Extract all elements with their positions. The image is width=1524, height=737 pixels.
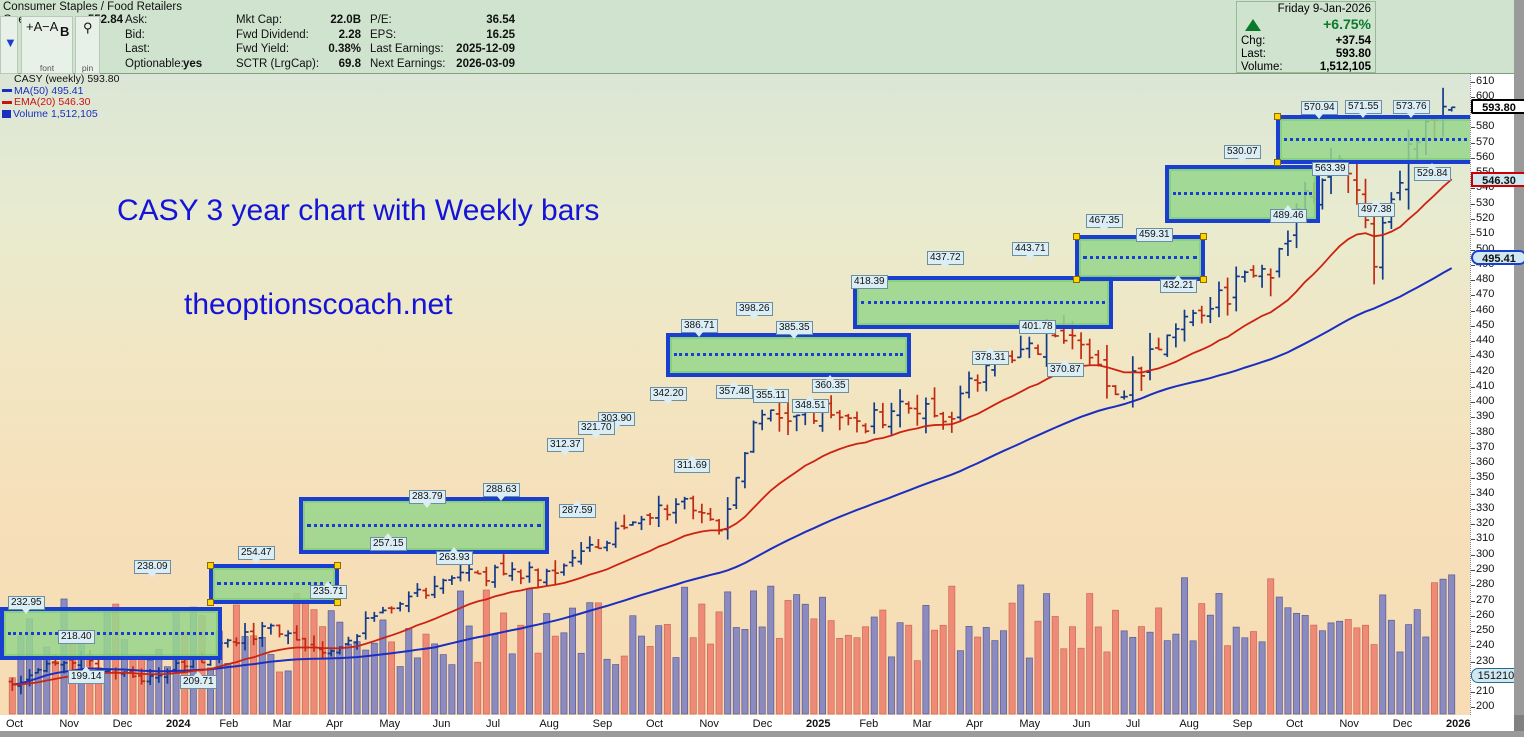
ohlc-bar bbox=[871, 402, 878, 433]
volume-bar bbox=[681, 587, 687, 714]
ask-label: Ask: bbox=[125, 14, 147, 26]
volume-bar bbox=[966, 626, 972, 714]
box-resize-handle[interactable] bbox=[1073, 276, 1080, 283]
volume-bar bbox=[716, 612, 722, 714]
volume-bar bbox=[302, 599, 308, 714]
next-earnings-value: 2026-03-09 bbox=[456, 58, 515, 70]
price-tag[interactable]: 571.55 bbox=[1345, 100, 1382, 114]
ohlc-bar bbox=[888, 403, 895, 435]
volume-bar bbox=[785, 600, 791, 714]
volume-bar bbox=[337, 622, 343, 714]
volume-bar bbox=[1009, 603, 1015, 714]
price-tag[interactable]: 238.09 bbox=[134, 560, 171, 574]
price-tag[interactable]: 254.47 bbox=[238, 546, 275, 560]
price-tag[interactable]: 311.69 bbox=[674, 459, 710, 473]
ohlc-bar bbox=[1138, 367, 1145, 391]
x-axis-tick: Mar bbox=[913, 718, 932, 730]
y-axis-tick: 300 bbox=[1476, 548, 1494, 560]
ohlc-bar bbox=[845, 414, 852, 425]
price-tag[interactable]: 283.79 bbox=[409, 490, 446, 504]
price-tag[interactable]: 232.95 bbox=[8, 596, 45, 610]
ohlc-bar bbox=[1250, 265, 1257, 277]
price-tag[interactable]: 209.71 bbox=[180, 675, 217, 689]
price-tag[interactable]: 573.76 bbox=[1393, 100, 1430, 114]
volume-row: Volume: 1,512,105 bbox=[1241, 61, 1371, 74]
volume-bar bbox=[225, 663, 231, 714]
volume-bar bbox=[1035, 621, 1041, 714]
fwd-dividend-label: Fwd Dividend: bbox=[236, 29, 309, 41]
volume-bar bbox=[268, 654, 274, 714]
change-row: Chg: +37.54 bbox=[1241, 35, 1371, 48]
price-tag[interactable]: 386.71 bbox=[681, 319, 718, 333]
volume-bar bbox=[587, 603, 593, 714]
volume-bar bbox=[380, 620, 386, 714]
volume-bar bbox=[1337, 621, 1343, 714]
price-tag[interactable]: 432.21 bbox=[1160, 279, 1197, 293]
ohlc-bar bbox=[457, 564, 464, 581]
ohlc-bar bbox=[974, 374, 981, 391]
volume-bar bbox=[345, 644, 351, 714]
ohlc-bar bbox=[862, 423, 869, 433]
ohlc-bar bbox=[646, 513, 653, 525]
volume-bar bbox=[604, 659, 610, 714]
ohlc-bar bbox=[655, 496, 662, 527]
volume-bar bbox=[535, 653, 541, 714]
ohlc-bar bbox=[931, 387, 938, 417]
ohlc-bar bbox=[1207, 297, 1214, 323]
volume-bar bbox=[1138, 627, 1144, 714]
fwd-yield-value: 0.38% bbox=[328, 43, 361, 55]
y-axis-tick: 280 bbox=[1476, 578, 1494, 590]
price-tag[interactable]: 312.37 bbox=[547, 438, 584, 452]
price-chart-plot[interactable]: CASY (weekly) 593.80 MA(50) 495.41 EMA(2… bbox=[0, 74, 1470, 715]
fwd-yield-label: Fwd Yield: bbox=[236, 43, 289, 55]
volume-bar bbox=[828, 621, 834, 714]
ohlc-bar bbox=[560, 563, 567, 575]
quote-last-label: Last: bbox=[1241, 48, 1266, 60]
box-resize-handle[interactable] bbox=[1200, 276, 1207, 283]
volume-bar bbox=[819, 597, 825, 714]
y-axis-tick: 420 bbox=[1476, 365, 1494, 377]
volume-bar bbox=[802, 604, 808, 714]
x-axis-tick: Nov bbox=[699, 718, 719, 730]
volume-bar bbox=[630, 616, 636, 714]
volume-bar bbox=[1026, 658, 1032, 714]
volume-bar bbox=[1449, 575, 1455, 714]
price-tag[interactable]: 530.07 bbox=[1224, 145, 1261, 159]
chevron-down-icon[interactable]: ▼ bbox=[4, 35, 17, 50]
ohlc-bar bbox=[388, 606, 395, 613]
y-axis-tick: 410 bbox=[1476, 380, 1494, 392]
ohlc-bar bbox=[1086, 339, 1093, 365]
y-axis-tick: 360 bbox=[1476, 456, 1494, 468]
ohlc-bar bbox=[595, 539, 602, 548]
price-tag[interactable]: 385.35 bbox=[776, 321, 813, 335]
x-axis-tick: Oct bbox=[6, 718, 23, 730]
volume-bar bbox=[1276, 597, 1282, 714]
volume-bar bbox=[742, 629, 748, 714]
price-tag[interactable]: 563.39 bbox=[1312, 162, 1349, 176]
volume-bar bbox=[397, 667, 403, 714]
price-tag[interactable]: 348.51 bbox=[792, 399, 829, 413]
dropdown-group[interactable]: ▼ bbox=[0, 16, 18, 74]
ohlc-bar bbox=[741, 452, 748, 488]
volume-bar bbox=[1104, 652, 1110, 714]
volume-bar bbox=[699, 604, 705, 714]
volume-bar bbox=[1423, 637, 1429, 714]
ohlc-bar bbox=[940, 412, 947, 430]
stockcharts-app: Consumer Staples / Food Retailers Open:5… bbox=[0, 0, 1524, 737]
price-tag[interactable]: 288.63 bbox=[483, 483, 520, 497]
ohlc-bar bbox=[483, 567, 490, 586]
price-tag[interactable]: 235.71 bbox=[310, 585, 347, 599]
volume-bar bbox=[983, 627, 989, 714]
ema20-price-marker: 546.30 bbox=[1471, 172, 1524, 187]
box-resize-handle[interactable] bbox=[334, 562, 341, 569]
volume-bar bbox=[811, 619, 817, 714]
y-axis-tick: 320 bbox=[1476, 517, 1494, 529]
ohlc-bar bbox=[793, 415, 800, 431]
ohlc-bar bbox=[629, 521, 636, 525]
ohlc-bar bbox=[1103, 345, 1110, 399]
price-tag[interactable]: 218.40 bbox=[58, 630, 95, 644]
x-axis-tick: May bbox=[379, 718, 400, 730]
pe-value: 36.54 bbox=[486, 14, 515, 26]
y-axis-tick: 400 bbox=[1476, 395, 1494, 407]
font-bold-button[interactable]: B bbox=[60, 24, 69, 39]
volume-bar bbox=[1354, 628, 1360, 714]
ohlc-bar bbox=[621, 515, 628, 530]
x-axis-tick: Feb bbox=[859, 718, 878, 730]
price-tag[interactable]: 443.71 bbox=[1012, 242, 1049, 256]
volume-bar bbox=[1173, 634, 1179, 714]
price-tag[interactable]: 287.59 bbox=[559, 504, 596, 518]
volume-bar bbox=[328, 611, 334, 714]
volume-bar bbox=[794, 595, 800, 714]
ohlc-bar bbox=[422, 588, 429, 599]
header-col-fundamentals: Mkt Cap:22.0B Fwd Dividend:2.28 Fwd Yiel… bbox=[236, 14, 361, 72]
price-tag[interactable]: 459.31 bbox=[1136, 228, 1173, 242]
price-tag[interactable]: 497.38 bbox=[1358, 203, 1395, 217]
price-tag[interactable]: 489.46 bbox=[1270, 209, 1307, 223]
pin-icon[interactable]: ⚲ bbox=[83, 20, 93, 36]
y-axis-tick: 250 bbox=[1476, 624, 1494, 636]
price-tag[interactable]: 401.78 bbox=[1019, 320, 1056, 334]
volume-bar bbox=[1043, 594, 1049, 714]
ohlc-bar bbox=[578, 542, 585, 565]
box-resize-handle[interactable] bbox=[1200, 233, 1207, 240]
ohlc-bar bbox=[405, 591, 412, 612]
box-midline bbox=[861, 301, 1105, 304]
ohlc-bar bbox=[707, 508, 714, 521]
volume-bar bbox=[888, 657, 894, 714]
x-axis-tick: Dec bbox=[753, 718, 773, 730]
volume-bar bbox=[1199, 604, 1205, 714]
volume-bar bbox=[975, 637, 981, 714]
volume-bar bbox=[621, 656, 627, 714]
volume-bar bbox=[1259, 642, 1265, 714]
chart-toolbar[interactable]: ▼ +A −A B font ⚲ pin bbox=[0, 16, 100, 74]
sector-label: Consumer Staples / Food Retailers bbox=[3, 1, 182, 13]
y-axis-tick: 380 bbox=[1476, 426, 1494, 438]
consolidation-box[interactable] bbox=[666, 333, 911, 377]
price-tag[interactable]: 467.35 bbox=[1086, 214, 1123, 228]
volume-bar bbox=[1069, 627, 1075, 714]
volume-bar bbox=[1250, 632, 1256, 714]
volume-bar bbox=[423, 634, 429, 714]
up-triangle-icon bbox=[1245, 19, 1261, 31]
price-tag[interactable]: 342.20 bbox=[650, 387, 687, 401]
volume-bar bbox=[483, 590, 489, 714]
ohlc-bar bbox=[784, 399, 791, 435]
box-resize-handle[interactable] bbox=[207, 562, 214, 569]
volume-bar bbox=[1268, 579, 1274, 714]
volume-bar bbox=[759, 627, 765, 714]
volume-bar bbox=[733, 628, 739, 714]
volume-bar bbox=[1311, 625, 1317, 714]
ohlc-bar bbox=[853, 412, 860, 433]
ohlc-bar bbox=[224, 639, 231, 648]
volume-bar bbox=[862, 627, 868, 714]
ohlc-bar bbox=[1155, 338, 1162, 350]
x-axis-tick: Oct bbox=[1286, 718, 1303, 730]
volume-bar bbox=[518, 625, 524, 714]
ohlc-bar bbox=[543, 569, 550, 586]
y-axis-tick: 240 bbox=[1476, 639, 1494, 651]
ohlc-bar bbox=[759, 410, 766, 431]
ohlc-bar bbox=[534, 568, 541, 588]
volume-bar bbox=[690, 638, 696, 714]
price-tag[interactable]: 378.31 bbox=[972, 351, 1009, 365]
x-axis-tick: Jun bbox=[1073, 718, 1091, 730]
ohlc-bar bbox=[983, 365, 990, 392]
ohlc-bar bbox=[603, 541, 610, 551]
volume-bar bbox=[1181, 578, 1187, 714]
x-axis-tick: May bbox=[1019, 718, 1040, 730]
volume-bar bbox=[1224, 646, 1230, 714]
font-group[interactable]: +A −A B font bbox=[21, 16, 73, 74]
ohlc-bar bbox=[397, 602, 404, 612]
ohlc-bar bbox=[1112, 385, 1119, 395]
box-resize-handle[interactable] bbox=[1274, 159, 1281, 166]
price-tag[interactable]: 570.94 bbox=[1301, 101, 1338, 115]
ohlc-bar bbox=[371, 612, 378, 622]
box-resize-handle[interactable] bbox=[334, 599, 341, 606]
font-decrease-button[interactable]: −A bbox=[42, 19, 58, 34]
pe-label: P/E: bbox=[370, 14, 392, 26]
ohlc-bar bbox=[1017, 336, 1024, 358]
volume-bar bbox=[475, 662, 481, 714]
quote-last-value: 593.80 bbox=[1336, 48, 1371, 60]
y-axis-tick: 290 bbox=[1476, 563, 1494, 575]
ohlc-bar bbox=[664, 505, 671, 521]
volume-bar bbox=[259, 637, 265, 714]
y-axis-tick: 210 bbox=[1476, 685, 1494, 697]
y-axis-tick: 480 bbox=[1476, 273, 1494, 285]
price-tag[interactable]: 263.93 bbox=[436, 551, 473, 565]
volume-bar bbox=[1130, 637, 1136, 714]
ohlc-bar bbox=[1026, 337, 1033, 358]
ohlc-bar bbox=[500, 554, 507, 575]
x-axis-tick: Sep bbox=[593, 718, 613, 730]
price-axis[interactable]: 6106005905805705605505405305205105004904… bbox=[1470, 74, 1514, 715]
ohlc-bar bbox=[1146, 333, 1153, 380]
x-axis-tick: Feb bbox=[219, 718, 238, 730]
y-axis-tick: 470 bbox=[1476, 288, 1494, 300]
volume-bar bbox=[949, 586, 955, 714]
ohlc-bar bbox=[465, 564, 472, 582]
volume-bar bbox=[1112, 610, 1118, 714]
volume-bar bbox=[569, 608, 575, 714]
next-earnings-label: Next Earnings: bbox=[370, 58, 445, 70]
y-axis-tick: 430 bbox=[1476, 349, 1494, 361]
x-axis-tick: 2026 bbox=[1446, 718, 1470, 730]
ohlc-bar bbox=[776, 400, 783, 431]
volume-bar bbox=[1216, 593, 1222, 714]
volume-bar bbox=[1302, 615, 1308, 714]
pin-group[interactable]: ⚲ pin bbox=[75, 16, 100, 74]
box-midline bbox=[1173, 192, 1312, 195]
price-tag[interactable]: 321.70 bbox=[578, 421, 615, 435]
price-tag[interactable]: 418.39 bbox=[851, 275, 888, 289]
volume-bar bbox=[707, 644, 713, 714]
x-axis-tick: Jul bbox=[1126, 718, 1140, 730]
ohlc-bar bbox=[733, 477, 740, 509]
volume-bar bbox=[1380, 595, 1386, 714]
y-axis-tick: 580 bbox=[1476, 120, 1494, 132]
font-group-caption: font bbox=[22, 63, 72, 73]
last-earnings-label: Last Earnings: bbox=[370, 43, 444, 55]
y-axis-tick: 230 bbox=[1476, 655, 1494, 667]
price-tag[interactable]: 199.14 bbox=[68, 670, 105, 684]
quote-date: Friday 9-Jan-2026 bbox=[1278, 3, 1371, 15]
ohlc-bar bbox=[715, 519, 722, 535]
volume-bar bbox=[1147, 632, 1153, 714]
ohlc-bar bbox=[509, 562, 516, 581]
y-axis-tick: 330 bbox=[1476, 502, 1494, 514]
price-tag[interactable]: 370.87 bbox=[1047, 363, 1084, 377]
ohlc-bar bbox=[698, 504, 705, 524]
ohlc-bar bbox=[440, 579, 447, 594]
volume-bar bbox=[1414, 610, 1420, 714]
volume-bar bbox=[138, 656, 144, 714]
y-axis-tick: 260 bbox=[1476, 609, 1494, 621]
volume-bar bbox=[1156, 608, 1162, 714]
ohlc-bar bbox=[1121, 390, 1128, 399]
price-tag[interactable]: 357.48 bbox=[716, 385, 753, 399]
box-resize-handle[interactable] bbox=[1073, 233, 1080, 240]
volume-bar bbox=[1440, 579, 1446, 714]
ohlc-bar bbox=[724, 497, 731, 539]
mktcap-label: Mkt Cap: bbox=[236, 14, 282, 26]
ohlc-bar bbox=[552, 560, 559, 584]
volume-bar bbox=[1087, 594, 1093, 714]
ohlc-bar bbox=[284, 630, 291, 644]
volume-bar bbox=[285, 671, 291, 714]
ohlc-bar bbox=[914, 395, 921, 426]
quote-summary-panel: Friday 9-Jan-2026 +6.75% Chg: +37.54 Las… bbox=[1236, 1, 1376, 73]
x-axis-tick: Jul bbox=[486, 718, 500, 730]
ohlc-bar bbox=[948, 412, 955, 433]
volume-bar bbox=[1285, 608, 1291, 714]
volume-bar bbox=[1078, 648, 1084, 714]
ohlc-bar bbox=[1241, 271, 1248, 283]
percent-change: +6.75% bbox=[1323, 16, 1371, 32]
horizontal-scrollbar[interactable] bbox=[0, 731, 1524, 737]
volume-bar bbox=[854, 638, 860, 714]
volume-bar bbox=[1388, 620, 1394, 714]
box-resize-handle[interactable] bbox=[207, 599, 214, 606]
ohlc-bar bbox=[1258, 265, 1265, 288]
ohlc-bar bbox=[276, 624, 283, 637]
ohlc-bar bbox=[672, 498, 679, 523]
volume-bar bbox=[1095, 627, 1101, 714]
y-axis-tick: 560 bbox=[1476, 151, 1494, 163]
header-col-earnings: P/E:36.54 EPS:16.25 Last Earnings:2025-1… bbox=[370, 14, 515, 72]
x-axis-tick: Dec bbox=[113, 718, 133, 730]
consolidation-box[interactable] bbox=[0, 607, 222, 660]
y-axis-tick: 610 bbox=[1476, 75, 1494, 87]
volume-bar bbox=[837, 638, 843, 714]
y-axis-tick: 510 bbox=[1476, 227, 1494, 239]
price-tag[interactable]: 257.15 bbox=[370, 537, 407, 551]
volume-bar bbox=[776, 638, 782, 714]
price-tag[interactable]: 360.35 bbox=[812, 379, 849, 393]
price-tag[interactable]: 398.26 bbox=[736, 302, 773, 316]
ohlc-bar bbox=[612, 522, 619, 548]
volume-bar bbox=[906, 625, 912, 714]
ohlc-bar bbox=[1008, 350, 1015, 363]
box-resize-handle[interactable] bbox=[1274, 113, 1281, 120]
volume-bar bbox=[1233, 627, 1239, 714]
ohlc-bar bbox=[586, 536, 593, 552]
consolidation-box[interactable] bbox=[1276, 115, 1470, 164]
sctr-label: SCTR (LrgCap): bbox=[236, 58, 319, 70]
ohlc-bar bbox=[957, 386, 964, 421]
volume-bar bbox=[414, 658, 420, 714]
volume-bar bbox=[1362, 625, 1368, 714]
volume-bar bbox=[1018, 585, 1024, 714]
ohlc-bar bbox=[1233, 267, 1240, 312]
volume-bar bbox=[319, 627, 325, 714]
ohlc-bar bbox=[1276, 248, 1283, 278]
price-tag[interactable]: 529.84 bbox=[1414, 167, 1451, 181]
volume-bar bbox=[552, 636, 558, 714]
volume-bar bbox=[432, 644, 438, 714]
y-axis-tick: 370 bbox=[1476, 441, 1494, 453]
ohlc-bar bbox=[474, 570, 481, 573]
ma50-price-marker: 495.41 bbox=[1471, 250, 1524, 265]
volume-bar bbox=[500, 613, 506, 714]
consolidation-box[interactable] bbox=[853, 276, 1113, 329]
ohlc-bar bbox=[879, 403, 886, 428]
price-tag[interactable]: 355.11 bbox=[753, 389, 789, 403]
y-axis-tick: 440 bbox=[1476, 334, 1494, 346]
ohlc-bar bbox=[379, 607, 386, 614]
optionable-label: Optionable: bbox=[125, 58, 184, 70]
price-tag[interactable]: 437.72 bbox=[927, 251, 964, 265]
y-axis-tick: 350 bbox=[1476, 471, 1494, 483]
font-increase-button[interactable]: +A bbox=[26, 19, 42, 34]
quote-header: Consumer Staples / Food Retailers Open:5… bbox=[0, 0, 1524, 74]
volume-bar bbox=[871, 617, 877, 714]
volume-bar bbox=[130, 656, 136, 714]
x-axis-tick: Mar bbox=[273, 718, 292, 730]
volume-bar bbox=[656, 626, 662, 714]
last-earnings-value: 2025-12-09 bbox=[456, 43, 515, 55]
ohlc-bar bbox=[750, 421, 757, 453]
volume-bar bbox=[768, 586, 774, 714]
